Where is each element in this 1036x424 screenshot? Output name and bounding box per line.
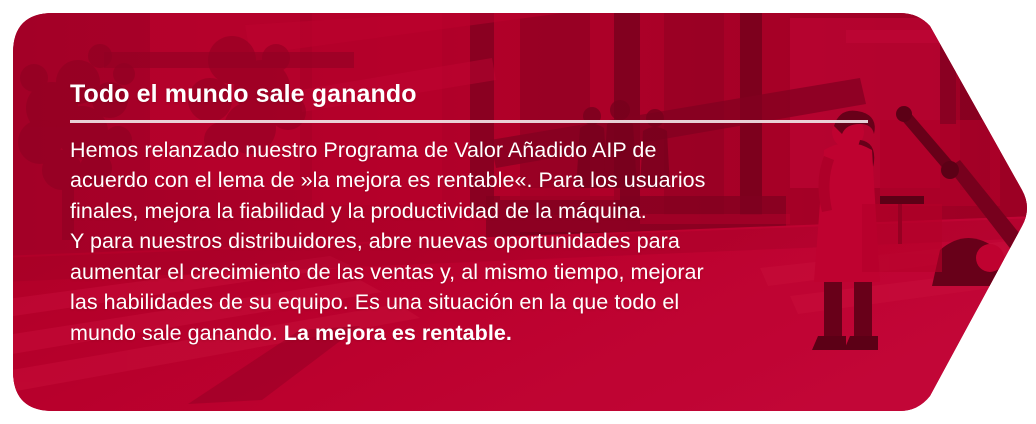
- body-line: aumentar el crecimiento de las ventas y,…: [70, 257, 880, 288]
- body-closing-bold: La mejora es rentable.: [284, 321, 512, 345]
- title-divider: [70, 120, 868, 123]
- body-paragraph: Hemos relanzado nuestro Programa de Valo…: [70, 135, 880, 349]
- body-last-line: mundo sale ganando. La mejora es rentabl…: [70, 318, 880, 349]
- card-content: Todo el mundo sale ganando Hemos relanza…: [70, 80, 880, 348]
- body-line-text: mundo sale ganando.: [70, 321, 284, 345]
- body-line: finales, mejora la fiabilidad y la produ…: [70, 196, 880, 227]
- body-line: acuerdo con el lema de »la mejora es ren…: [70, 165, 880, 196]
- arrow-banner-card: Todo el mundo sale ganando Hemos relanza…: [0, 0, 1036, 424]
- art-hanging-lamp: [976, 10, 1022, 86]
- body-line: Y para nuestros distribuidores, abre nue…: [70, 226, 880, 257]
- body-line: Hemos relanzado nuestro Programa de Valo…: [70, 135, 880, 166]
- body-line: las habilidades de su equipo. Es una sit…: [70, 287, 880, 318]
- page-title: Todo el mundo sale ganando: [70, 80, 880, 109]
- banner-card-stage: Todo el mundo sale ganando Hemos relanza…: [0, 0, 1036, 424]
